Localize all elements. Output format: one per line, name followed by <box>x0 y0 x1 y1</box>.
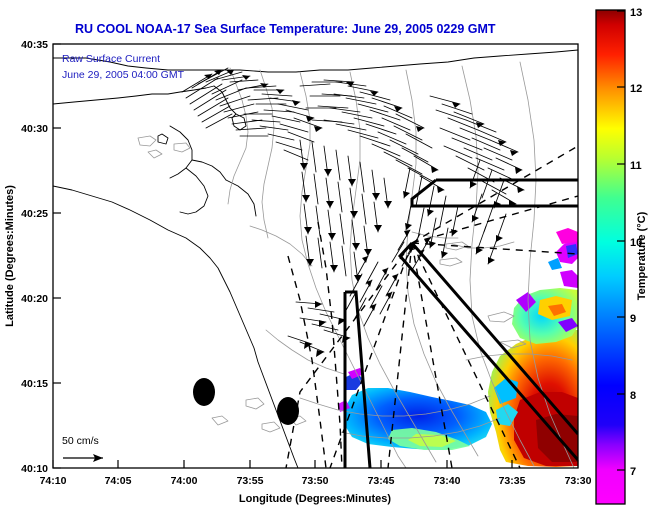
sst-figure: RU COOL NOAA-17 Sea Surface Temperature:… <box>0 0 651 515</box>
colorbar-tick-4: 9 <box>630 313 636 325</box>
figure-root: RU COOL NOAA-17 Sea Surface Temperature:… <box>0 0 651 515</box>
y-axis-label: Latitude (Degrees:Minutes) <box>4 185 16 327</box>
x-tick-5: 73:45 <box>368 475 395 487</box>
y-tick-2: 40:25 <box>21 208 48 220</box>
annotation-line-1: Raw Surface Current <box>62 53 160 65</box>
annotation-line-2: June 29, 2005 04:00 GMT <box>62 69 185 81</box>
y-tick-1: 40:30 <box>21 123 48 135</box>
x-tick-2: 74:00 <box>171 475 198 487</box>
y-tick-4: 40:15 <box>21 378 48 390</box>
page-title: RU COOL NOAA-17 Sea Surface Temperature:… <box>75 22 496 36</box>
colorbar: 13 12 11 10 9 8 7 Temperature (°C) <box>596 7 648 504</box>
x-tick-6: 73:40 <box>434 475 461 487</box>
scale-bar-label: 50 cm/s <box>62 435 99 447</box>
radar-site-2-marker <box>277 397 299 425</box>
sst-region-eastern-cool-filament <box>512 288 578 344</box>
colorbar-tick-2: 11 <box>630 160 642 172</box>
x-tick-1: 74:05 <box>105 475 132 487</box>
colorbar-title: Temperature (°C) <box>636 211 648 300</box>
colorbar-tick-6: 7 <box>630 466 636 478</box>
x-tick-0: 74:10 <box>40 475 67 487</box>
colorbar-tick-5: 8 <box>630 390 636 402</box>
x-tick-3: 73:55 <box>237 475 264 487</box>
radar-site-1-marker <box>193 378 215 406</box>
x-tick-8: 73:30 <box>565 475 592 487</box>
colorbar-gradient <box>596 10 625 504</box>
x-axis-label: Longitude (Degrees:Minutes) <box>239 493 392 505</box>
y-tick-0: 40:35 <box>21 39 48 51</box>
x-tick-7: 73:35 <box>499 475 526 487</box>
colorbar-tick-1: 12 <box>630 83 642 95</box>
colorbar-tick-0: 13 <box>630 7 642 19</box>
y-tick-3: 40:20 <box>21 293 48 305</box>
y-tick-5: 40:10 <box>21 463 48 475</box>
x-tick-4: 73:50 <box>302 475 329 487</box>
